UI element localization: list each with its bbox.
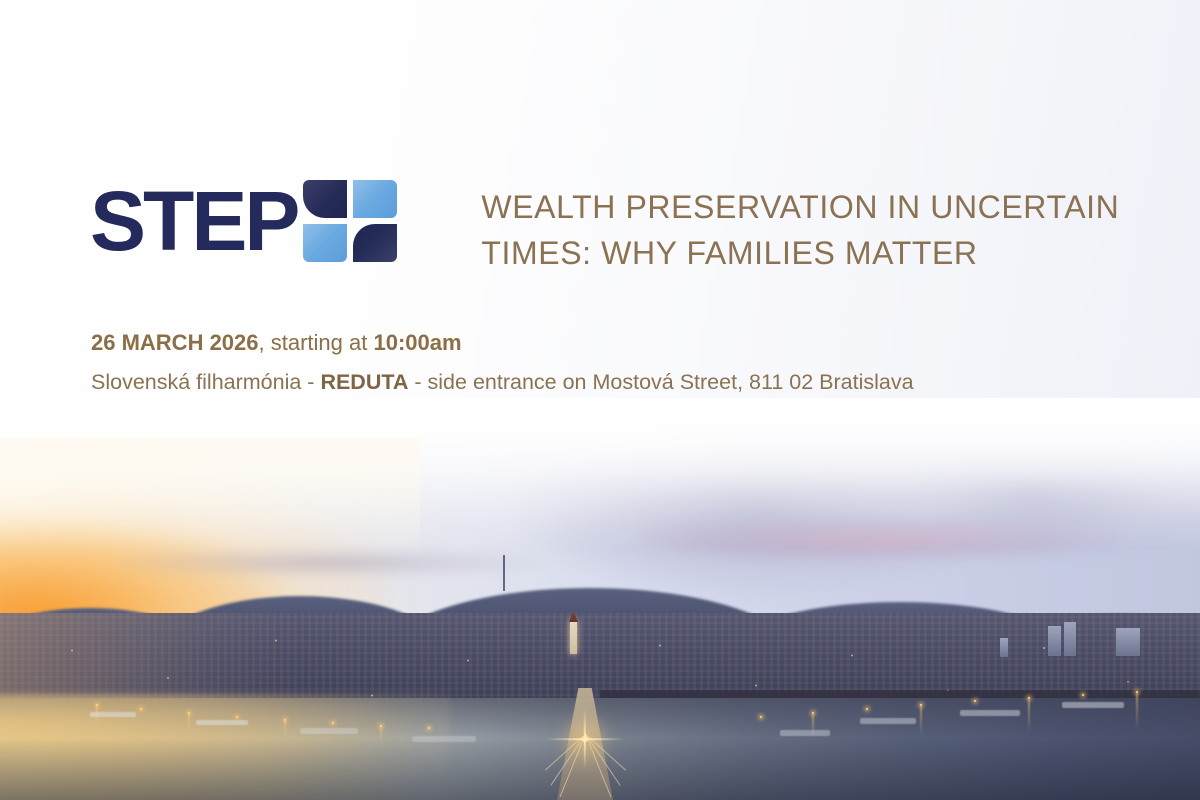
- logo-quadrant-bottom-left: [303, 224, 347, 262]
- venue-prefix: Slovenská filharmónia -: [91, 370, 320, 394]
- event-date-separator: , starting at: [259, 330, 374, 355]
- event-venue-line: Slovenská filharmónia - REDUTA - side en…: [91, 367, 914, 397]
- logo-quadrant-bottom-right: [353, 224, 397, 262]
- event-title: WEALTH PRESERVATION IN UNCERTAIN TIMES: …: [481, 178, 1119, 276]
- event-date-line: 26 MARCH 2026, starting at 10:00am: [91, 328, 914, 358]
- venue-name: REDUTA: [320, 370, 408, 394]
- venue-suffix: - side entrance on Mostová Street, 811 0…: [408, 370, 913, 394]
- logo-quadrant-top-left: [303, 180, 347, 218]
- step-wordmark: STEP: [90, 179, 297, 263]
- event-date: 26 MARCH 2026: [91, 330, 259, 355]
- event-time: 10:00am: [373, 330, 461, 355]
- step-quadrant-mark-icon: [303, 180, 399, 264]
- banner-header: STEP WEALTH PRESERVATION IN UNCERTAIN TI…: [90, 178, 1160, 278]
- step-logo[interactable]: STEP: [90, 178, 399, 264]
- event-banner: STEP WEALTH PRESERVATION IN UNCERTAIN TI…: [0, 0, 1200, 800]
- event-details: 26 MARCH 2026, starting at 10:00am Slove…: [91, 328, 914, 397]
- logo-quadrant-top-right: [353, 180, 397, 218]
